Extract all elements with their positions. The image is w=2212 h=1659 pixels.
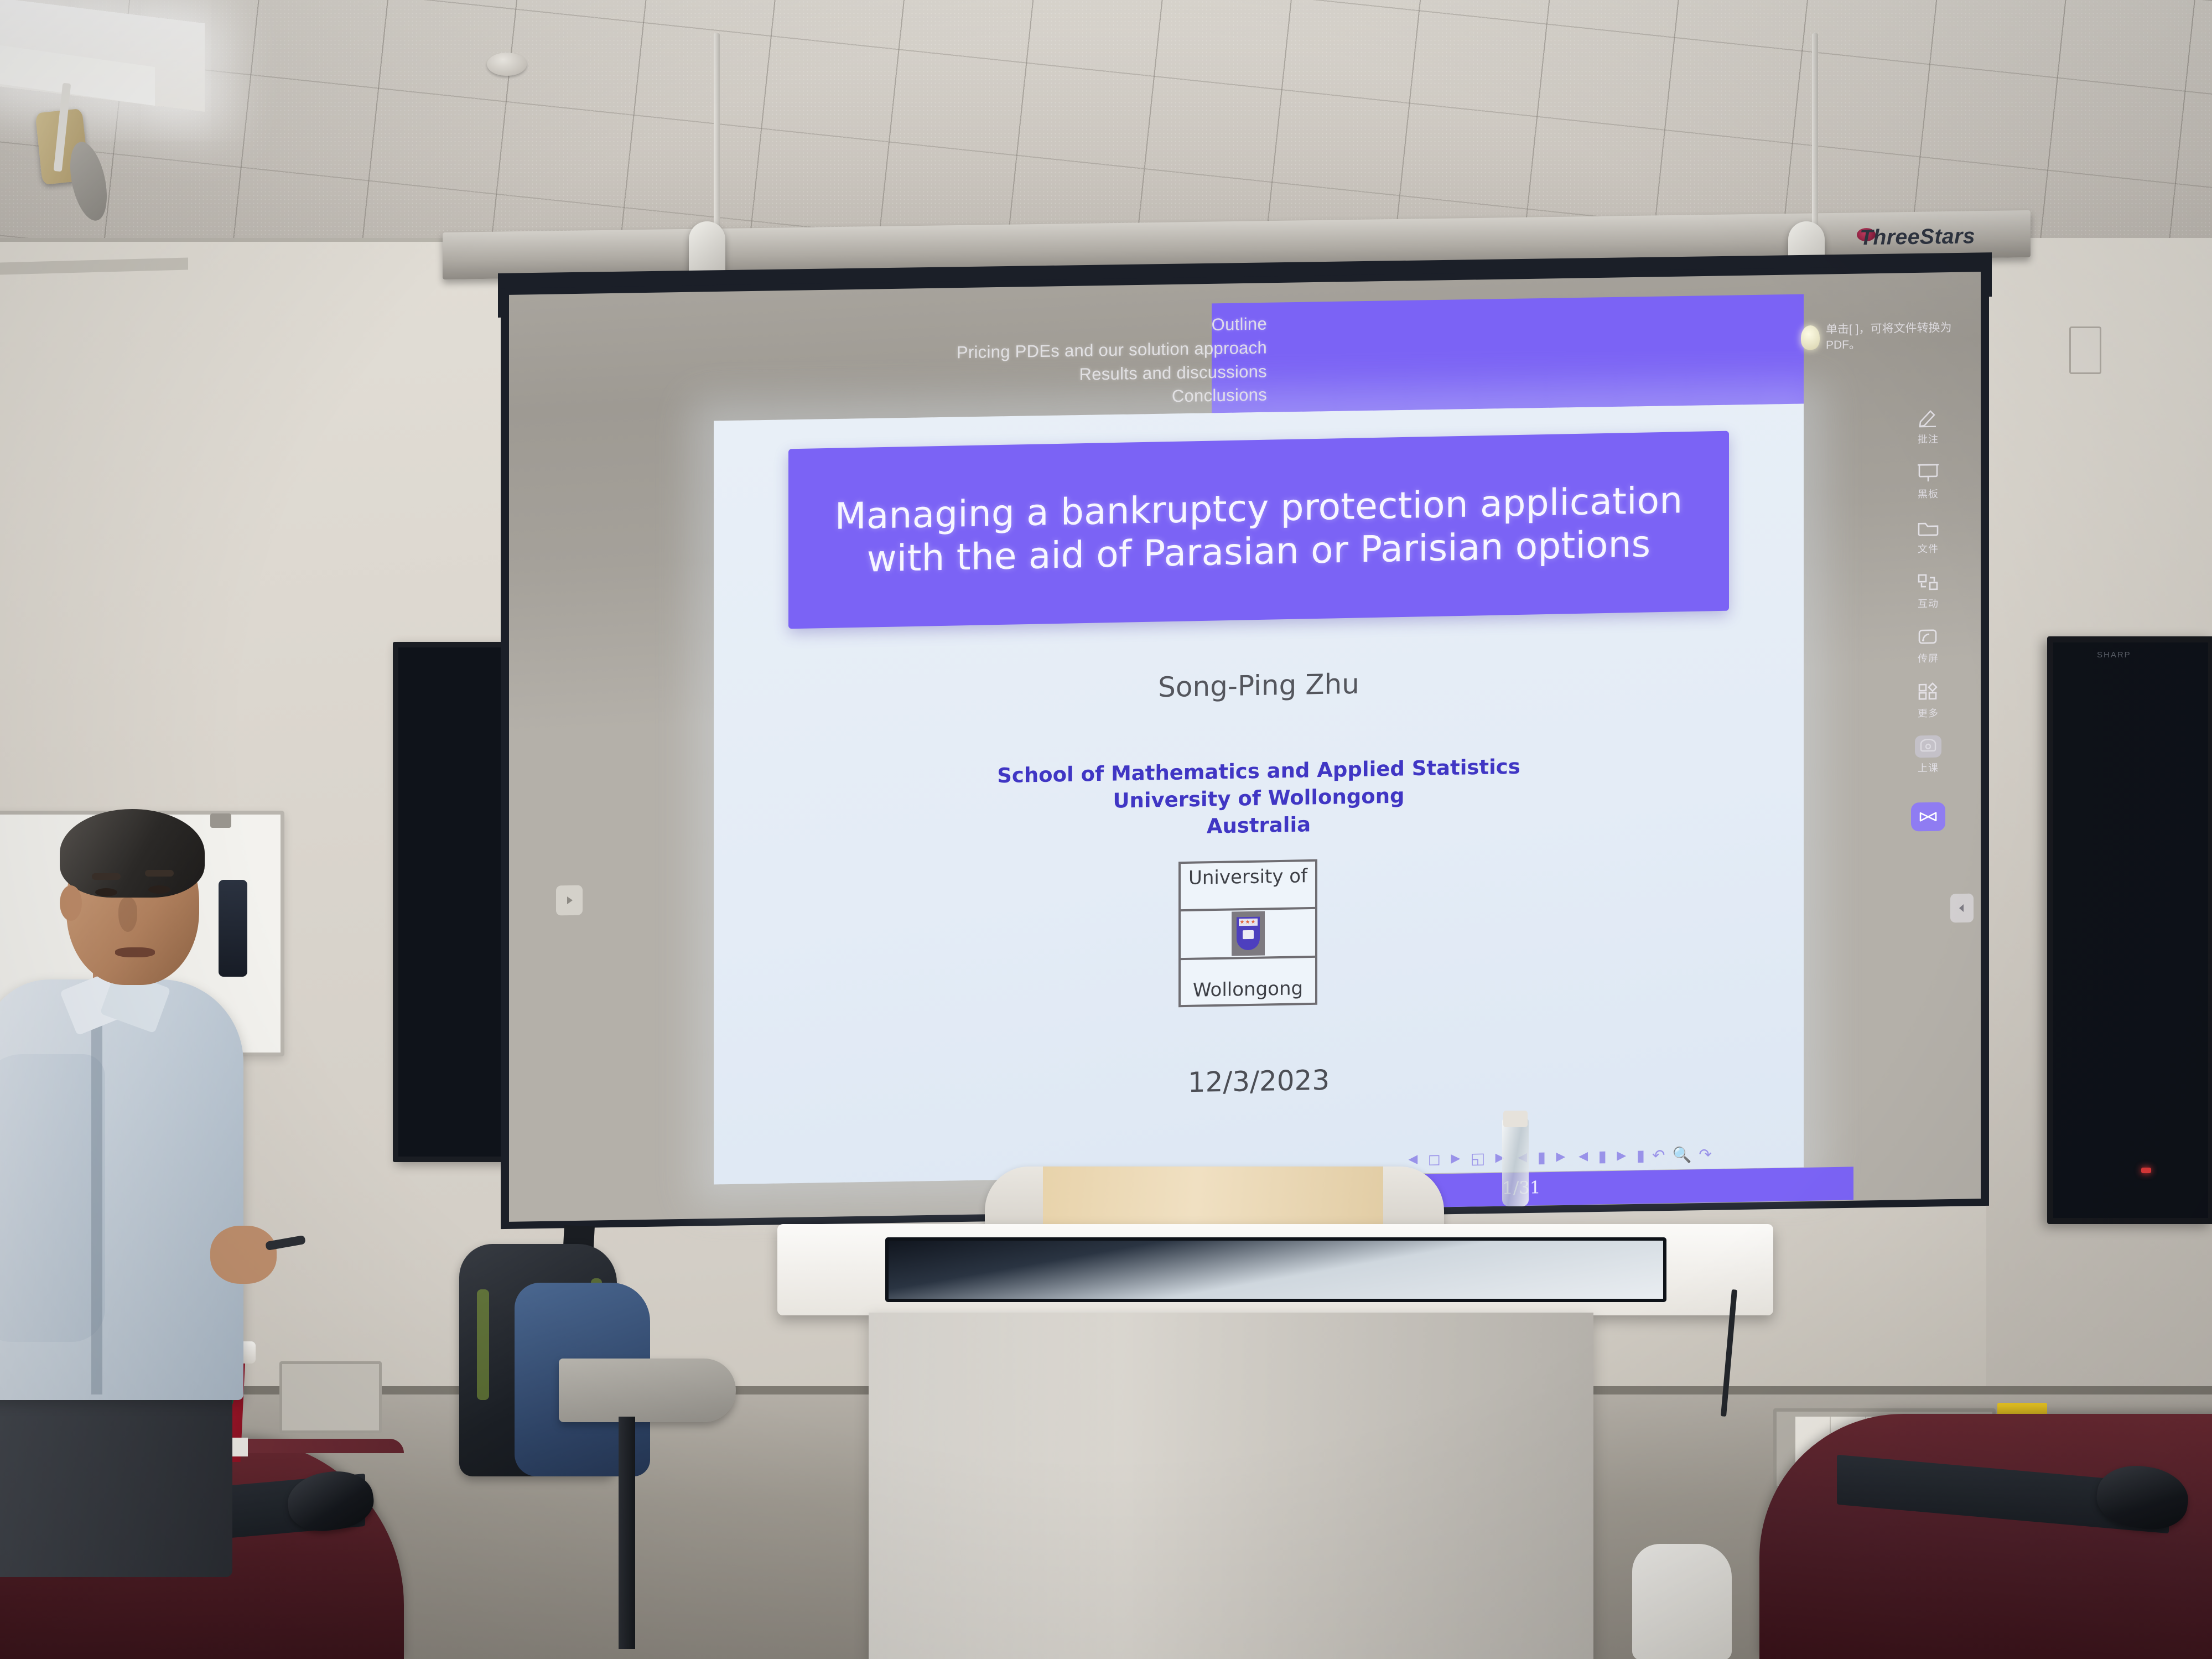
university-logo: University of ★★★ Wollongong	[1178, 859, 1317, 1007]
pen-annotate-icon	[1915, 407, 1941, 429]
toolbar-item-screencast[interactable]: 传屏	[1915, 626, 1941, 666]
projector-brand-label: ThreeStars	[1860, 224, 1975, 250]
slide-outline-nav: Outline Pricing PDEs and our solution ap…	[880, 313, 1267, 413]
chair-tablet-arm	[559, 1359, 736, 1422]
collapse-left-icon[interactable]	[1950, 894, 1974, 923]
toolbar-item-blackboard[interactable]: 黑板	[1915, 462, 1941, 501]
lectern-shading	[869, 1313, 1593, 1659]
presenter-ear	[60, 885, 82, 921]
presenter-eyebrow-right	[145, 870, 174, 877]
whiteboard-marker	[219, 880, 247, 977]
nav-slide-mark-icon[interactable]: ▮	[1598, 1147, 1606, 1165]
student-desk-right	[1759, 1414, 2212, 1659]
toolbar-label-files: 文件	[1918, 541, 1939, 556]
screen-play-handle-icon[interactable]	[556, 885, 583, 916]
crest-icon: ★★★	[1232, 911, 1265, 956]
tooltip-line-2: PDF。	[1826, 335, 1992, 354]
screen-cast-icon	[1915, 626, 1941, 649]
presenter-eye-right	[148, 885, 170, 894]
chair-post	[619, 1417, 635, 1649]
nav-slide-prev-icon[interactable]: ◄	[1576, 1147, 1591, 1165]
logo-crest-row: ★★★	[1181, 906, 1315, 960]
presenter-nose	[118, 898, 137, 932]
toolbar-label-annotate: 批注	[1918, 432, 1939, 447]
lectern-wood-insert	[1043, 1167, 1383, 1230]
logo-text-bottom: Wollongong	[1193, 977, 1303, 1004]
lightbulb-icon	[1801, 325, 1820, 350]
nav-end-icon[interactable]: ▮	[1637, 1146, 1645, 1164]
logo-text-top: University of	[1188, 862, 1307, 889]
toolbar-label-blackboard: 黑板	[1918, 486, 1939, 501]
ceiling-hanger-rod-right	[1812, 33, 1818, 243]
wall-switch-plate[interactable]	[2069, 326, 2101, 374]
more-grid-icon	[1915, 681, 1941, 703]
toolbar-item-files[interactable]: 文件	[1915, 516, 1941, 556]
presenter-hair	[60, 809, 205, 898]
crest-stars-icon: ★★★	[1239, 918, 1258, 926]
lectern-touch-display[interactable]	[885, 1237, 1666, 1302]
crest-book-icon	[1243, 930, 1254, 939]
screen-toolbar[interactable]: 批注 黑板 文件 互动 传屏	[1892, 406, 1964, 832]
nav-next-icon[interactable]: ►	[1448, 1149, 1463, 1167]
standby-led-icon	[2141, 1168, 2151, 1173]
nav-sub-mark-icon[interactable]: ▮	[1538, 1148, 1546, 1166]
toolbar-label-screencast: 传屏	[1918, 651, 1939, 666]
display-brand-label: SHARP	[2097, 650, 2131, 660]
start-class-icon	[1915, 735, 1941, 758]
toolbar-item-more[interactable]: 更多	[1915, 681, 1941, 720]
wall-access-panel-left	[279, 1361, 382, 1433]
backpack-strap	[477, 1289, 489, 1400]
slide-title-band: Managing a bankruptcy protection applica…	[788, 431, 1729, 629]
ribbon-brand-icon[interactable]	[1911, 802, 1945, 832]
water-bottle	[1502, 1118, 1529, 1206]
toolbar-item-interaction[interactable]: 互动	[1915, 571, 1941, 611]
toolbar-label-interaction: 互动	[1918, 596, 1939, 611]
wall-display-panel[interactable]	[2047, 636, 2212, 1224]
nav-search-icon[interactable]: 🔍	[1672, 1145, 1691, 1164]
plastic-bag	[1632, 1544, 1732, 1659]
smoke-detector-icon	[487, 53, 527, 76]
presenter-mouth	[115, 947, 155, 957]
nav-back-icon[interactable]: ↶	[1652, 1145, 1665, 1164]
nav-section-icon[interactable]: ◻	[1428, 1149, 1441, 1168]
shirt-placket	[91, 1007, 102, 1394]
left-wall-monitor[interactable]	[393, 642, 509, 1162]
nav-forward-icon[interactable]: ↷	[1699, 1145, 1711, 1163]
folder-files-icon	[1915, 516, 1941, 539]
presenter-hand	[210, 1226, 277, 1284]
toolbar-label-more: 更多	[1918, 706, 1939, 720]
slide-affiliation: School of Mathematics and Applied Statis…	[788, 750, 1729, 847]
toolbar-item-start-class[interactable]: 上课	[1915, 735, 1941, 775]
lecture-room-photo: SHARP ThreeStars Outline Pricing PDEs an…	[0, 0, 2212, 1659]
toolbar-item-annotate[interactable]: 批注	[1915, 407, 1941, 447]
presenter-eye-left	[95, 888, 117, 896]
interaction-icon	[1915, 571, 1941, 594]
nav-sub-next-icon[interactable]: ►	[1553, 1148, 1569, 1165]
nav-slide-next-icon[interactable]: ►	[1614, 1147, 1629, 1164]
whiteboard-clip	[210, 813, 231, 828]
pdf-hint-tooltip: 单击[ ]，可将文件转换为 PDF。	[1826, 320, 1992, 354]
blackboard-icon	[1915, 462, 1941, 484]
nav-prev-icon[interactable]: ◄	[1405, 1150, 1421, 1168]
nav-frames-icon[interactable]: ◱	[1471, 1149, 1485, 1167]
toolbar-label-start-class: 上课	[1918, 760, 1939, 775]
presenter-arm	[0, 1054, 105, 1342]
presenter-eyebrow-left	[92, 873, 121, 880]
bottle-cap	[1503, 1111, 1528, 1127]
